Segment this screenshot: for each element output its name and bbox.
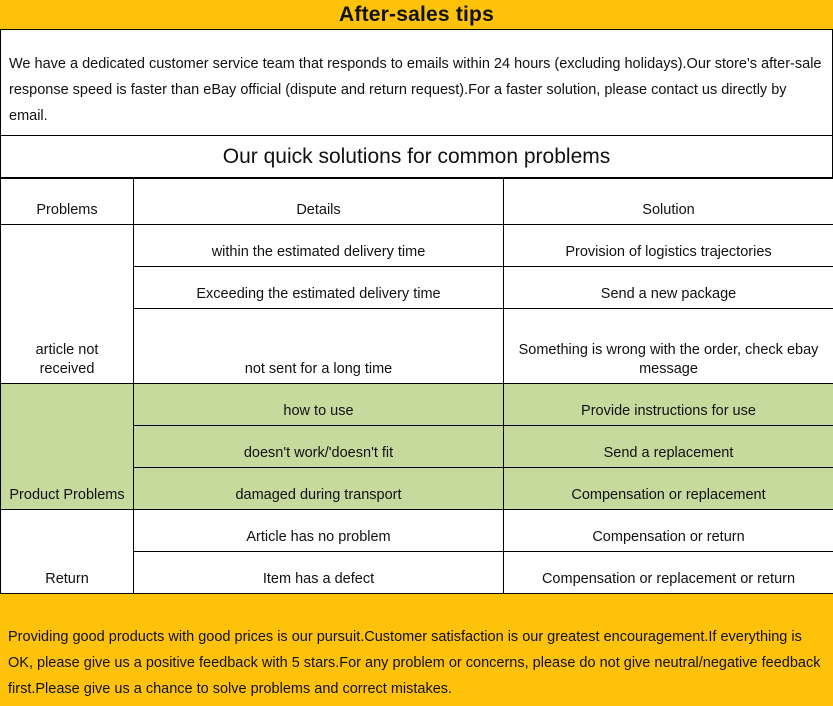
group-label-product-problems: Product Problems [1,384,134,510]
group-label-article-not-received: article not received [1,225,134,384]
solution-cell: Compensation or return [504,510,833,552]
detail-cell: not sent for a long time [134,308,504,383]
solutions-table: Problems Details Solution article not re… [0,178,833,594]
footer-banner: Providing good products with good prices… [0,594,833,706]
table-header-row: Problems Details Solution [1,179,833,225]
table-row: Product Problems how to use Provide inst… [1,384,833,426]
footer-paragraph: Providing good products with good prices… [8,624,825,702]
subtitle-text: Our quick solutions for common problems [223,146,611,167]
detail-cell: Article has no problem [134,510,504,552]
solution-cell: Provision of logistics trajectories [504,225,833,267]
detail-cell: Item has a defect [134,552,504,594]
header-banner: After-sales tips [0,0,833,30]
page-title: After-sales tips [339,4,494,25]
solution-cell: Compensation or replacement or return [504,552,833,594]
detail-cell: doesn't work/'doesn't fit [134,426,504,468]
detail-cell: within the estimated delivery time [134,225,504,267]
detail-cell: damaged during transport [134,468,504,510]
detail-cell: how to use [134,384,504,426]
intro-section: We have a dedicated customer service tea… [0,30,833,136]
solution-cell: Provide instructions for use [504,384,833,426]
column-header-details: Details [134,179,504,225]
column-header-solution: Solution [504,179,833,225]
subtitle-section: Our quick solutions for common problems [0,136,833,178]
solution-cell: Something is wrong with the order, check… [504,308,833,383]
after-sales-tips-page: After-sales tips We have a dedicated cus… [0,0,833,706]
solution-cell: Send a replacement [504,426,833,468]
table-row: Return Article has no problem Compensati… [1,510,833,552]
column-header-problems: Problems [1,179,134,225]
intro-paragraph: We have a dedicated customer service tea… [9,51,824,129]
solution-cell: Send a new package [504,266,833,308]
solutions-table-wrapper: Problems Details Solution article not re… [0,178,833,594]
detail-cell: Exceeding the estimated delivery time [134,266,504,308]
table-row: article not received within the estimate… [1,225,833,267]
group-label-return: Return [1,510,134,594]
solution-cell: Compensation or replacement [504,468,833,510]
